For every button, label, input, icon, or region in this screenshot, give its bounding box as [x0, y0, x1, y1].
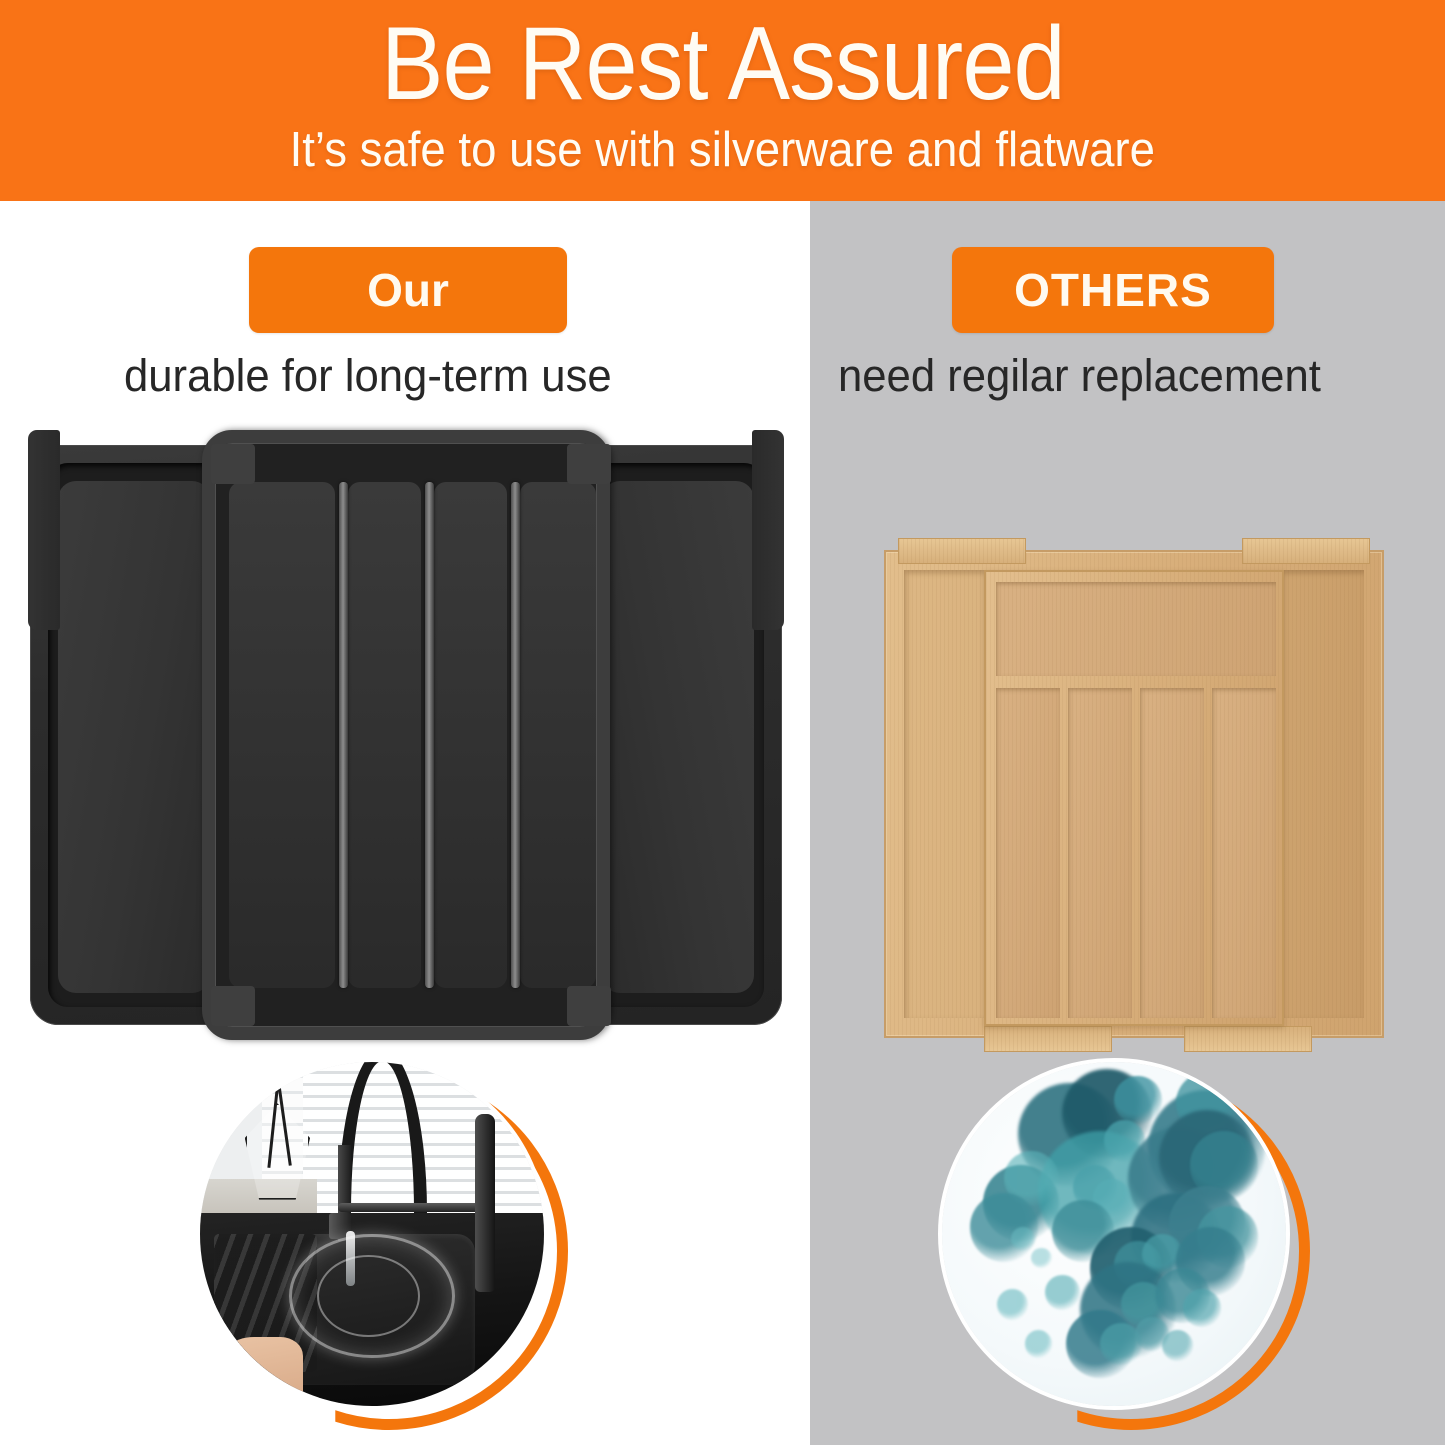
faucet-crossbar [338, 1203, 489, 1212]
water-splash-inner [317, 1255, 420, 1338]
faucet-rinse-image [196, 1058, 548, 1410]
silicone-tray-tab-left [28, 430, 60, 630]
bamboo-slot-2 [1068, 688, 1132, 1018]
mold-colonies-image [938, 1058, 1290, 1410]
silicone-divider-rib-2 [425, 482, 434, 988]
mold-colony [1162, 1330, 1193, 1361]
bamboo-tab-top-right [1242, 538, 1370, 564]
bamboo-slot-3 [1140, 688, 1204, 1018]
bamboo-inner-insert [984, 570, 1284, 1026]
product-comparison-infographic: Be Rest Assured It’s safe to use with si… [0, 0, 1445, 1445]
mold-colony [1183, 1289, 1221, 1327]
silicone-divider-rib-3 [511, 482, 520, 988]
silicone-notch-top-right [567, 444, 611, 484]
silicone-compartment-right [602, 481, 754, 993]
badge-our: Our [249, 247, 567, 333]
mold-colony [1114, 1076, 1162, 1124]
silicone-compartment-left [58, 481, 210, 993]
inset-photo-mold-colonies [938, 1058, 1308, 1428]
bamboo-top-compartment [996, 582, 1276, 676]
petri-dish-surface [942, 1062, 1286, 1406]
mold-colony [1025, 1330, 1053, 1358]
page-title: Be Rest Assured [381, 12, 1065, 116]
silicone-tray-tab-right [752, 430, 784, 630]
mold-colony [1031, 1248, 1052, 1269]
inset-photo-faucet-rinse [196, 1058, 566, 1428]
hand-holding-tray [214, 1337, 303, 1410]
sink-scene [200, 1062, 544, 1406]
badge-others: OTHERS [952, 247, 1274, 333]
silicone-slot-2 [348, 482, 421, 988]
mold-colony [997, 1289, 1028, 1320]
bamboo-tab-bottom-left [984, 1026, 1112, 1052]
bamboo-slot-1 [996, 688, 1060, 1018]
caption-others: need regilar replacement [838, 350, 1321, 402]
bamboo-tab-bottom-right [1184, 1026, 1312, 1052]
mold-colony [1011, 1227, 1035, 1251]
product-image-silicone-tray [30, 430, 782, 1040]
bamboo-tab-top-left [898, 538, 1026, 564]
caption-our: durable for long-term use [124, 350, 612, 402]
bamboo-slot-4 [1212, 688, 1276, 1018]
silicone-divider-rib-1 [339, 482, 348, 988]
product-image-bamboo-tray [884, 538, 1384, 1038]
silicone-slot-1 [229, 482, 335, 988]
page-subtitle: It’s safe to use with silverware and fla… [290, 126, 1155, 175]
mold-colony [1045, 1275, 1079, 1309]
silicone-notch-top-left [211, 444, 255, 484]
silicone-slot-3 [434, 482, 507, 988]
silicone-notch-bottom-left [211, 986, 255, 1026]
silicone-slot-4 [520, 482, 596, 988]
silicone-notch-bottom-right [567, 986, 611, 1026]
header-banner: Be Rest Assured It’s safe to use with si… [0, 0, 1445, 201]
faucet-sprayer [475, 1114, 495, 1293]
